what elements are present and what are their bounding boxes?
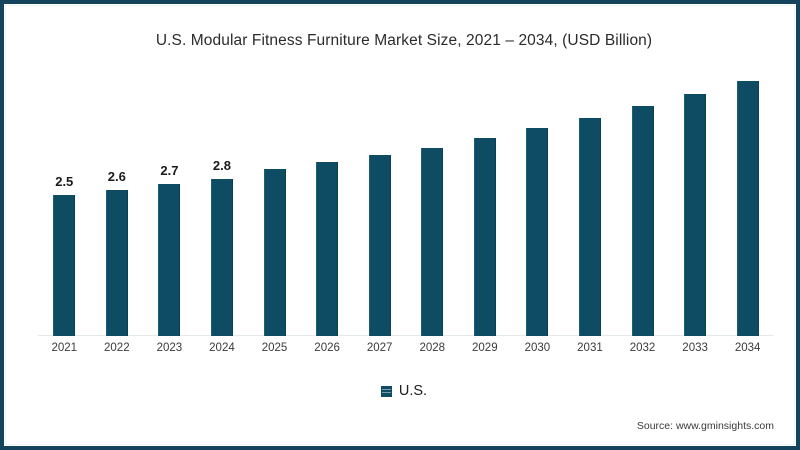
bar[interactable]	[526, 128, 548, 336]
x-axis-tick-2034: 2034	[721, 342, 774, 354]
bar[interactable]	[158, 184, 180, 336]
x-axis-tick-2033: 2033	[669, 342, 722, 354]
bar[interactable]	[53, 195, 75, 336]
bar-slot	[511, 66, 564, 336]
bar-value-label: 2.7	[160, 163, 178, 178]
bar[interactable]	[316, 162, 338, 336]
x-axis-tick-2032: 2032	[616, 342, 669, 354]
bar-slot	[353, 66, 406, 336]
x-axis-tick-labels: 2021202220232024202520262027202820292030…	[38, 342, 774, 360]
bar-slot	[669, 66, 722, 336]
bar[interactable]	[474, 138, 496, 336]
chart-title: U.S. Modular Fitness Furniture Market Si…	[4, 32, 800, 50]
x-axis-tick-2030: 2030	[511, 342, 564, 354]
bar-slot	[721, 66, 774, 336]
chart-legend: U.S.	[4, 383, 800, 399]
bar-slot: 2.6	[91, 66, 144, 336]
bar-value-label: 2.5	[55, 174, 73, 189]
bar[interactable]	[737, 81, 759, 336]
x-axis-tick-2031: 2031	[564, 342, 617, 354]
bar-slot	[248, 66, 301, 336]
bar-slot: 2.5	[38, 66, 91, 336]
x-axis-tick-2027: 2027	[353, 342, 406, 354]
plot-area: 2.52.62.72.8	[38, 66, 774, 336]
x-axis-tick-2026: 2026	[301, 342, 354, 354]
x-axis-tick-2028: 2028	[406, 342, 459, 354]
x-axis-tick-2023: 2023	[143, 342, 196, 354]
bar[interactable]	[632, 106, 654, 336]
bar-group: 2.52.62.72.8	[38, 66, 774, 336]
bar-slot	[459, 66, 512, 336]
bar-slot	[301, 66, 354, 336]
legend-swatch-icon	[381, 386, 392, 397]
bar[interactable]	[579, 118, 601, 336]
bar-slot: 2.8	[196, 66, 249, 336]
bar-slot: 2.7	[143, 66, 196, 336]
x-axis-tick-2022: 2022	[91, 342, 144, 354]
x-axis-tick-2024: 2024	[196, 342, 249, 354]
bar-value-label: 2.8	[213, 158, 231, 173]
bar-slot	[564, 66, 617, 336]
bar[interactable]	[264, 169, 286, 336]
bar-slot	[616, 66, 669, 336]
bar[interactable]	[106, 190, 128, 336]
legend-label: U.S.	[399, 383, 427, 399]
chart-figure: U.S. Modular Fitness Furniture Market Si…	[0, 0, 800, 450]
bar[interactable]	[211, 179, 233, 337]
x-axis-tick-2025: 2025	[248, 342, 301, 354]
bar[interactable]	[684, 94, 706, 336]
bar[interactable]	[421, 148, 443, 336]
x-axis-tick-2029: 2029	[459, 342, 512, 354]
bar-value-label: 2.6	[108, 169, 126, 184]
bar[interactable]	[369, 155, 391, 336]
x-axis-tick-2021: 2021	[38, 342, 91, 354]
source-attribution: Source: www.gminsights.com	[637, 420, 774, 432]
bar-slot	[406, 66, 459, 336]
